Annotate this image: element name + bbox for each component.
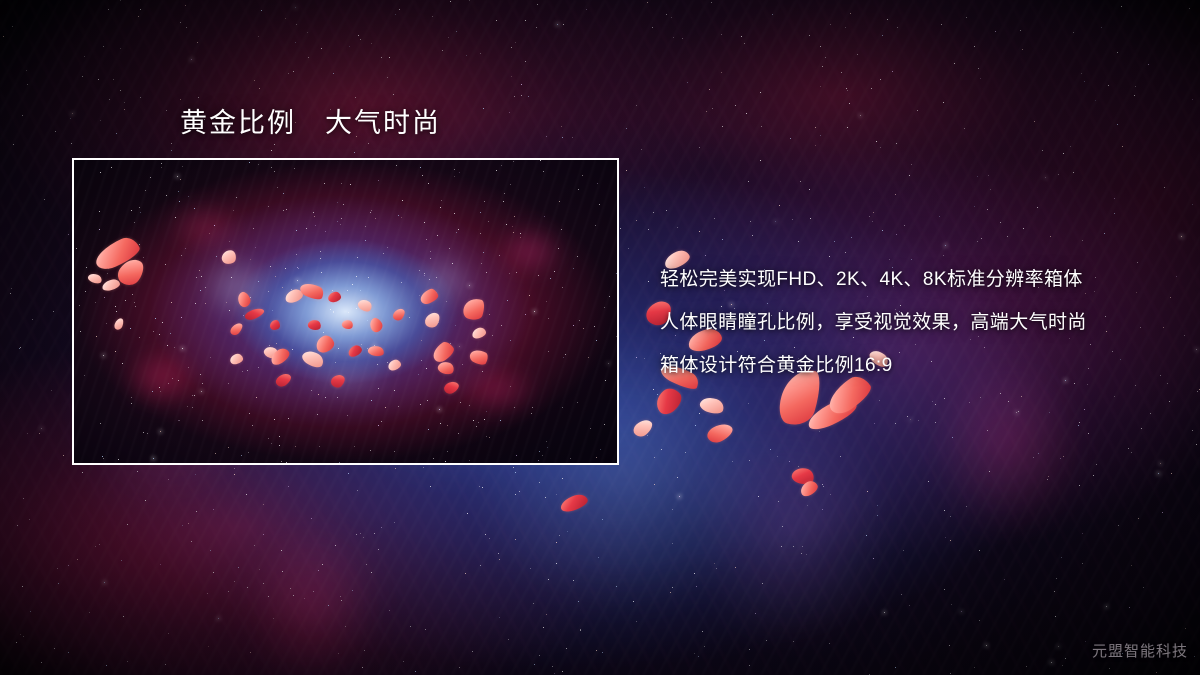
petal: [329, 372, 347, 390]
petal: [101, 278, 121, 292]
page-title: 黄金比例 大气时尚: [180, 101, 441, 140]
frame-petal-group: [74, 160, 617, 463]
feature-description-block: 轻松完美实现FHD、2K、4K、8K标准分辨率箱体 人体眼睛瞳孔比例，享受视觉效…: [660, 258, 1180, 387]
petal: [341, 319, 354, 331]
petal: [705, 420, 735, 446]
petal: [113, 317, 125, 331]
petal: [559, 492, 590, 514]
description-line-1: 轻松完美实现FHD、2K、4K、8K标准分辨率箱体: [660, 258, 1180, 301]
petal: [436, 360, 455, 377]
petal: [804, 394, 860, 433]
petal: [468, 347, 490, 368]
petal: [270, 320, 280, 330]
petal: [631, 416, 655, 440]
petal: [471, 326, 487, 339]
petal: [429, 339, 456, 365]
petal: [387, 358, 402, 372]
frame-nebula-core: [74, 160, 617, 463]
petal: [114, 254, 148, 290]
description-line-2: 人体眼睛瞳孔比例，享受视觉效果，高端大气时尚: [660, 301, 1180, 344]
petal: [442, 379, 461, 396]
petal: [235, 290, 252, 309]
petal: [262, 344, 280, 360]
petal: [651, 384, 686, 418]
company-watermark: 元盟智能科技: [1092, 640, 1188, 661]
petal: [418, 287, 440, 306]
petal: [423, 310, 442, 330]
description-line-3: 箱体设计符合黄金比例16:9: [660, 344, 1180, 387]
petal: [244, 306, 266, 322]
petal: [229, 321, 245, 338]
petal: [87, 272, 103, 286]
frame-nebula-wisps: [74, 160, 617, 463]
frame-nebula-filaments: [74, 160, 617, 463]
petal: [300, 347, 326, 370]
petal: [347, 344, 364, 359]
petal: [274, 371, 293, 390]
slide-canvas: 黄金比例 大气时尚 轻松完美实现FHD、2K、4K、8K标准分辨率箱体 人体眼睛…: [0, 0, 1200, 675]
petal: [284, 288, 305, 305]
petal: [307, 318, 322, 331]
petal: [314, 333, 336, 354]
petal: [798, 479, 820, 499]
petal: [221, 249, 237, 265]
petal: [790, 466, 815, 487]
frame-starfield: [74, 160, 617, 463]
petal: [91, 234, 142, 274]
petal: [367, 344, 385, 357]
petal: [367, 316, 384, 334]
petal: [327, 291, 342, 303]
petal: [229, 353, 244, 365]
petal: [298, 280, 326, 303]
petal: [698, 395, 725, 417]
petal: [391, 306, 407, 322]
petal: [268, 346, 292, 368]
petal: [356, 297, 374, 314]
framed-nebula-image: [72, 158, 619, 465]
petal: [461, 295, 487, 322]
